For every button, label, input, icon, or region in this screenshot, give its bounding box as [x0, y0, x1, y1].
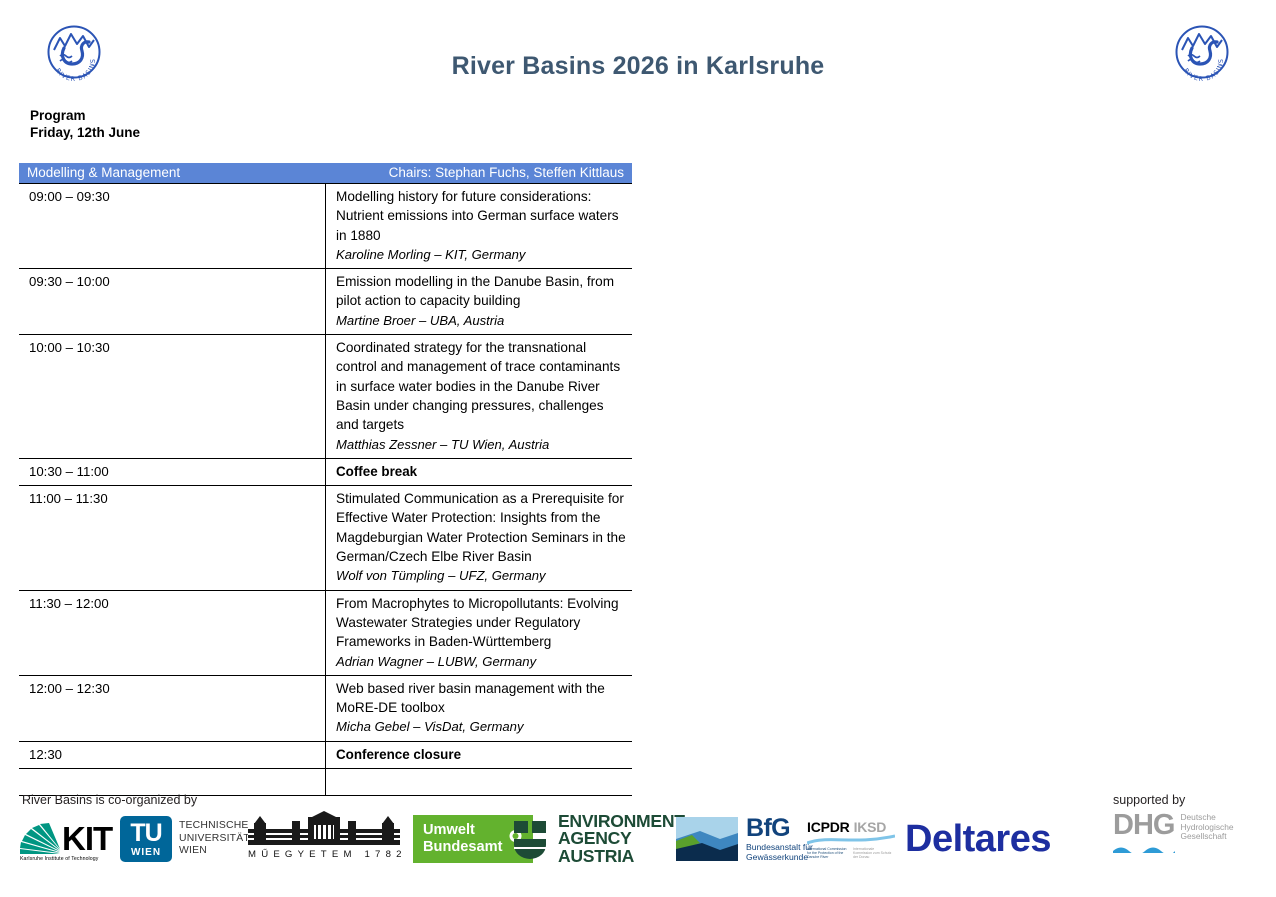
- program-label: Program: [30, 107, 140, 124]
- schedule-row: 11:30 – 12:00From Macrophytes to Micropo…: [19, 590, 632, 675]
- schedule-row-speaker: Adrian Wagner – LUBW, Germany: [336, 652, 626, 671]
- schedule-row-title: Stimulated Communication as a Prerequisi…: [336, 489, 626, 566]
- bfg-wordmark: BfG: [746, 816, 813, 840]
- dhg-wave-icon: [1113, 844, 1175, 853]
- kit-fan-icon: [18, 823, 62, 855]
- schedule-row-body: Modelling history for future considerati…: [326, 184, 633, 269]
- schedule-row-body: Coordinated strategy for the transnation…: [326, 335, 633, 459]
- schedule-row-body: Conference closure: [326, 741, 633, 768]
- kit-wordmark: KIT: [62, 824, 112, 854]
- bfg-sub: Bundesanstalt für Gewässerkunde: [746, 842, 813, 862]
- dhg-top: DHG Deutsche Hydrologische Gesellschaft: [1113, 811, 1234, 842]
- bme-wordmark: MŰEGYETEM 1782: [248, 849, 407, 860]
- schedule-row-speaker: Matthias Zessner – TU Wien, Austria: [336, 435, 626, 454]
- bfg-line1: Bundesanstalt für: [746, 842, 813, 852]
- schedule-row: 12:00 – 12:30Web based river basin manag…: [19, 675, 632, 741]
- dhg-line3: Gesellschaft: [1180, 832, 1233, 842]
- environment-agency-austria-logo: ENVIRONMENT AGENCY AUSTRIA: [510, 811, 685, 867]
- schedule-row-speaker: Wolf von Tümpling – UFZ, Germany: [336, 566, 626, 585]
- bfg-landscape-icon: [676, 817, 738, 861]
- schedule-row-title: From Macrophytes to Micropollutants: Evo…: [336, 594, 626, 652]
- schedule-row-body: Stimulated Communication as a Prerequisi…: [326, 486, 633, 590]
- bfg-logo: BfG Bundesanstalt für Gewässerkunde: [676, 811, 813, 867]
- icpdr-wordmark-secondary: IKSD: [854, 819, 887, 835]
- dhg-subtitle: Deutsche Hydrologische Gesellschaft: [1180, 813, 1233, 842]
- coorganized-caption: River Basins is co-organized by: [22, 793, 197, 807]
- bme-building-icon: [248, 811, 400, 847]
- uba-text: Umwelt Bundesamt: [423, 822, 502, 856]
- icpdr-legend-de: Internationale Kommission zum Schutz der…: [853, 847, 893, 860]
- kit-subtitle: Karlsruhe Institute of Technology: [20, 856, 98, 862]
- schedule-row-title: Coffee break: [336, 462, 626, 481]
- schedule-row-title: Web based river basin management with th…: [336, 679, 626, 718]
- schedule-row: 11:00 – 11:30Stimulated Communication as…: [19, 486, 632, 590]
- sponsor-logo-row: KIT Karlsruhe Institute of Technology TU…: [0, 811, 1276, 871]
- icpdr-legend: International Commission for the Protect…: [807, 847, 893, 860]
- icpdr-logo: ICPDR IKSD International Commission for …: [807, 811, 895, 867]
- icpdr-wordmarks: ICPDR IKSD: [807, 819, 886, 835]
- uba-line2: Bundesamt: [423, 839, 502, 856]
- schedule-row-title: Modelling history for future considerati…: [336, 187, 626, 245]
- tuwien-mark-top: TU: [130, 821, 161, 846]
- uba-line1: Umwelt: [423, 822, 502, 839]
- schedule-row-body: Web based river basin management with th…: [326, 675, 633, 741]
- schedule-row-time: 12:00 – 12:30: [19, 675, 326, 741]
- schedule-spacer-row: [19, 769, 632, 796]
- session-chairs: Chairs: Stephan Fuchs, Steffen Kittlaus: [389, 165, 624, 180]
- schedule-row: 09:00 – 09:30Modelling history for futur…: [19, 184, 632, 269]
- schedule-row: 10:00 – 10:30Coordinated strategy for th…: [19, 335, 632, 459]
- supported-caption: supported by: [1113, 793, 1185, 807]
- schedule-row-body: [326, 769, 633, 796]
- schedule-row-title: Emission modelling in the Danube Basin, …: [336, 272, 626, 311]
- page-title: River Basins 2026 in Karlsruhe: [0, 52, 1276, 81]
- deltares-logo: Deltares: [905, 811, 1051, 867]
- schedule-row-time: 11:30 – 12:00: [19, 590, 326, 675]
- icpdr-legend-en: International Commission for the Protect…: [807, 847, 847, 860]
- program-heading: Program Friday, 12th June: [30, 107, 140, 141]
- bfg-text: BfG Bundesanstalt für Gewässerkunde: [746, 816, 813, 862]
- session-header-cell: Modelling & Management Chairs: Stephan F…: [19, 163, 632, 184]
- page-header: RIVER BASINS RIVER BASINS River Basins 2…: [0, 0, 1276, 100]
- schedule-row-body: Emission modelling in the Danube Basin, …: [326, 269, 633, 335]
- eaa-text: ENVIRONMENT AGENCY AUSTRIA: [558, 813, 685, 865]
- kit-logo: KIT Karlsruhe Institute of Technology: [18, 811, 112, 867]
- schedule-row-title: Coordinated strategy for the transnation…: [336, 338, 626, 434]
- session-name: Modelling & Management: [27, 165, 180, 180]
- footer: River Basins is co-organized by supporte…: [0, 793, 1276, 883]
- dhg-wordmark: DHG: [1113, 811, 1174, 839]
- tuwien-text: TECHNISCHE UNIVERSITÄT WIEN: [179, 820, 250, 858]
- deltares-wordmark: Deltares: [905, 820, 1051, 858]
- eaa-leaf-icon: [510, 817, 550, 861]
- schedule-row-body: Coffee break: [326, 458, 633, 485]
- schedule-row: 10:30 – 11:00Coffee break: [19, 458, 632, 485]
- tuwien-mark-bottom: WIEN: [131, 848, 161, 858]
- schedule-row-time: 12:30: [19, 741, 326, 768]
- schedule-row-time: 09:00 – 09:30: [19, 184, 326, 269]
- schedule-row-speaker: Martine Broer – UBA, Austria: [336, 311, 626, 330]
- dhg-logo: DHG Deutsche Hydrologische Gesellschaft: [1113, 811, 1234, 867]
- schedule-row-speaker: Micha Gebel – VisDat, Germany: [336, 717, 626, 736]
- schedule-row: 12:30Conference closure: [19, 741, 632, 768]
- tuwien-mark: TU WIEN: [120, 816, 172, 862]
- schedule-row-speaker: Karoline Morling – KIT, Germany: [336, 245, 626, 264]
- schedule-row-time: [19, 769, 326, 796]
- tuwien-line1: TECHNISCHE: [179, 820, 250, 833]
- schedule-row-title: Conference closure: [336, 745, 626, 764]
- session-header-row: Modelling & Management Chairs: Stephan F…: [19, 163, 632, 184]
- schedule-row-time: 10:00 – 10:30: [19, 335, 326, 459]
- schedule-row: 09:30 – 10:00Emission modelling in the D…: [19, 269, 632, 335]
- icpdr-wordmark-primary: ICPDR: [807, 819, 850, 835]
- schedule-row-time: 10:30 – 11:00: [19, 458, 326, 485]
- tuwien-line3: WIEN: [179, 845, 250, 858]
- program-date: Friday, 12th June: [30, 124, 140, 141]
- bme-logo: MŰEGYETEM 1782: [248, 811, 407, 867]
- icpdr-wave-icon: [807, 834, 895, 846]
- schedule-row-body: From Macrophytes to Micropollutants: Evo…: [326, 590, 633, 675]
- tuwien-line2: UNIVERSITÄT: [179, 833, 250, 846]
- bfg-line2: Gewässerkunde: [746, 852, 813, 862]
- schedule-table: Modelling & Management Chairs: Stephan F…: [19, 163, 632, 796]
- eaa-line3: AUSTRIA: [558, 848, 685, 865]
- schedule-row-time: 09:30 – 10:00: [19, 269, 326, 335]
- schedule-row-time: 11:00 – 11:30: [19, 486, 326, 590]
- tuwien-logo: TU WIEN TECHNISCHE UNIVERSITÄT WIEN: [120, 811, 250, 867]
